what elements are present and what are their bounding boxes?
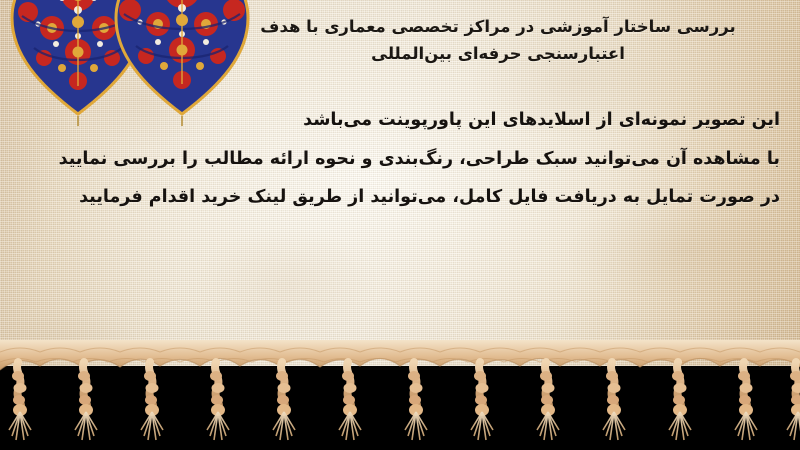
tassel-fringe	[0, 340, 800, 450]
tassel-fringe-graphic	[0, 340, 800, 450]
body-line: در صورت تمایل به دریافت فایل کامل، می‌تو…	[90, 189, 780, 207]
presentation-slide: بررسی ساختار آموزشی در مراکز تخصصی معمار…	[0, 0, 800, 450]
slide-title: بررسی ساختار آموزشی در مراکز تخصصی معمار…	[218, 14, 778, 67]
body-line: این تصویر نمونه‌ای از اسلایدهای این پاور…	[90, 112, 780, 130]
body-line: با مشاهده آن می‌توانید سبک طراحی، رنگ‌بن…	[90, 151, 780, 169]
slide-body: این تصویر نمونه‌ای از اسلایدهای این پاور…	[90, 112, 780, 207]
